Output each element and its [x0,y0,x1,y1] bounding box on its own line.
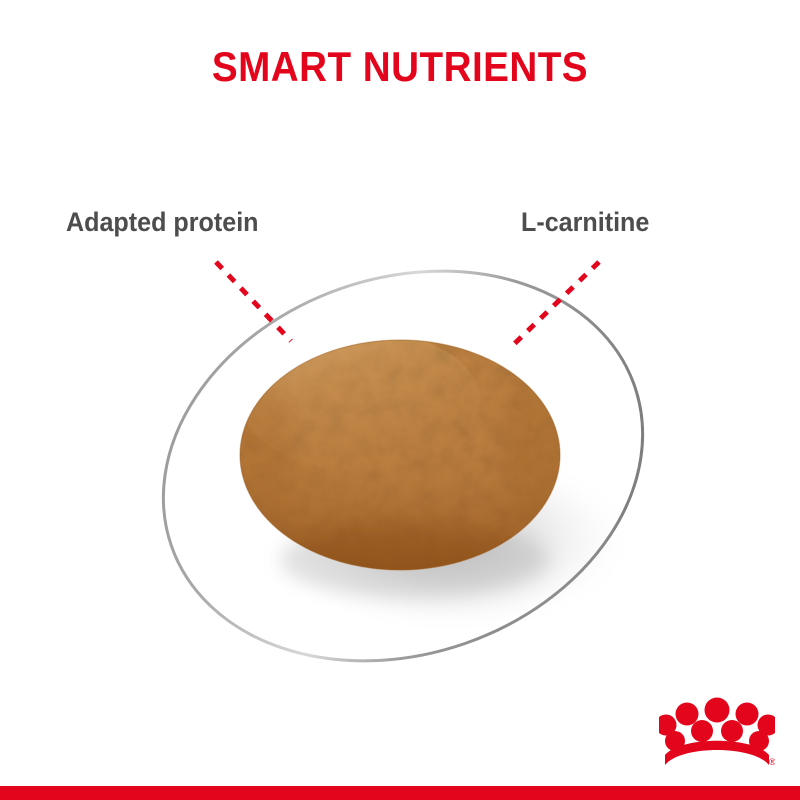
footer-bar [0,786,800,800]
callout-label-l-carnitine: L-carnitine [521,209,649,236]
leader-line-adapted-protein [216,262,291,341]
registered-mark: ® [769,757,775,767]
leader-line-l-carnitine [512,262,599,346]
illustration-svg [0,0,800,800]
callout-label-adapted-protein: Adapted protein [66,209,259,236]
royal-canin-crown-logo: ® [659,695,775,771]
crown-icon: ® [659,695,775,771]
illustration-kibble-in-ellipse [0,0,800,800]
smart-nutrients-panel: SMART NUTRIENTS [0,0,800,800]
